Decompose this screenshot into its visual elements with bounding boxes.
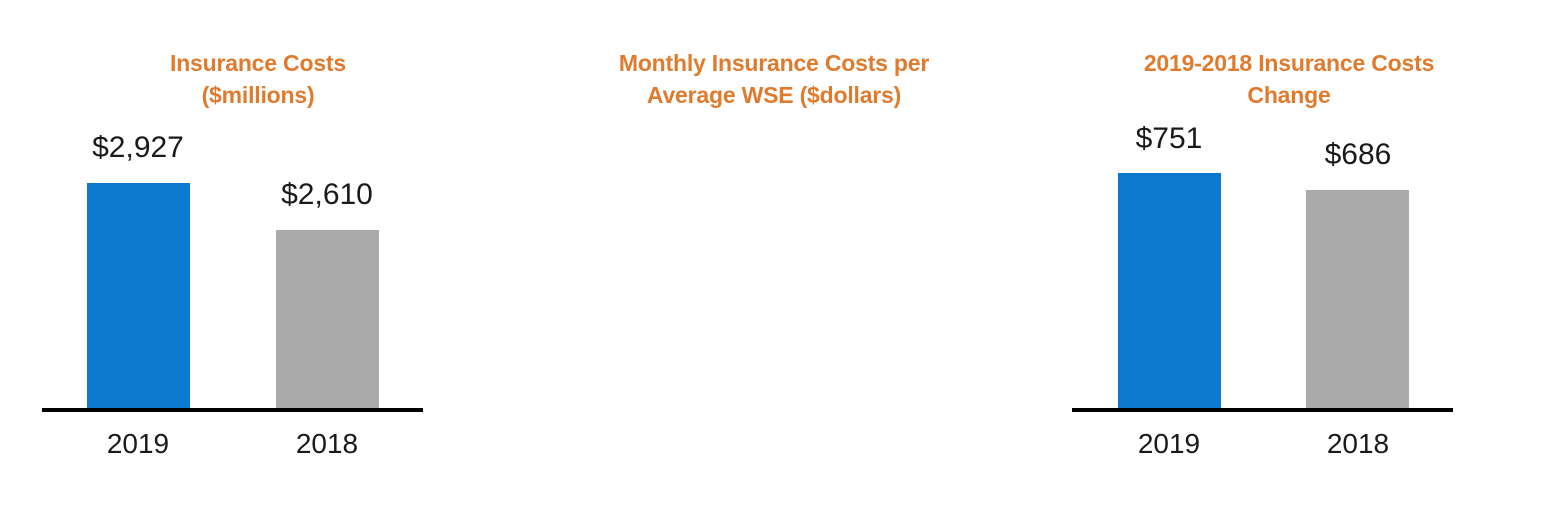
chart-panel-monthly-costs-per-wse: Monthly Insurance Costs per Average WSE … [516,0,1032,522]
category-label-2019: 2019 [62,428,214,460]
plot-area-3: 2% 6% 4% 12% Volume Rate Mix Total [1032,0,1546,522]
bar-value-label-2018: $2,610 [251,178,403,212]
plot-area-2: $751 $686 2019 2018 [516,0,1032,522]
charts-row: Insurance Costs ($millions) $2,927 $2,61… [0,0,1546,522]
chart-panel-insurance-costs-change: 2019-2018 Insurance Costs Change 2% 6% 4… [1032,0,1546,522]
bar-2018[interactable] [276,230,379,410]
category-label-2018: 2018 [251,428,403,460]
plot-area-1: $2,927 $2,610 2019 2018 [0,0,516,522]
bar-2019[interactable] [87,183,190,410]
x-axis-line-1 [42,408,423,412]
bar-value-label-2019: $2,927 [62,131,214,165]
chart-panel-insurance-costs: Insurance Costs ($millions) $2,927 $2,61… [0,0,516,522]
